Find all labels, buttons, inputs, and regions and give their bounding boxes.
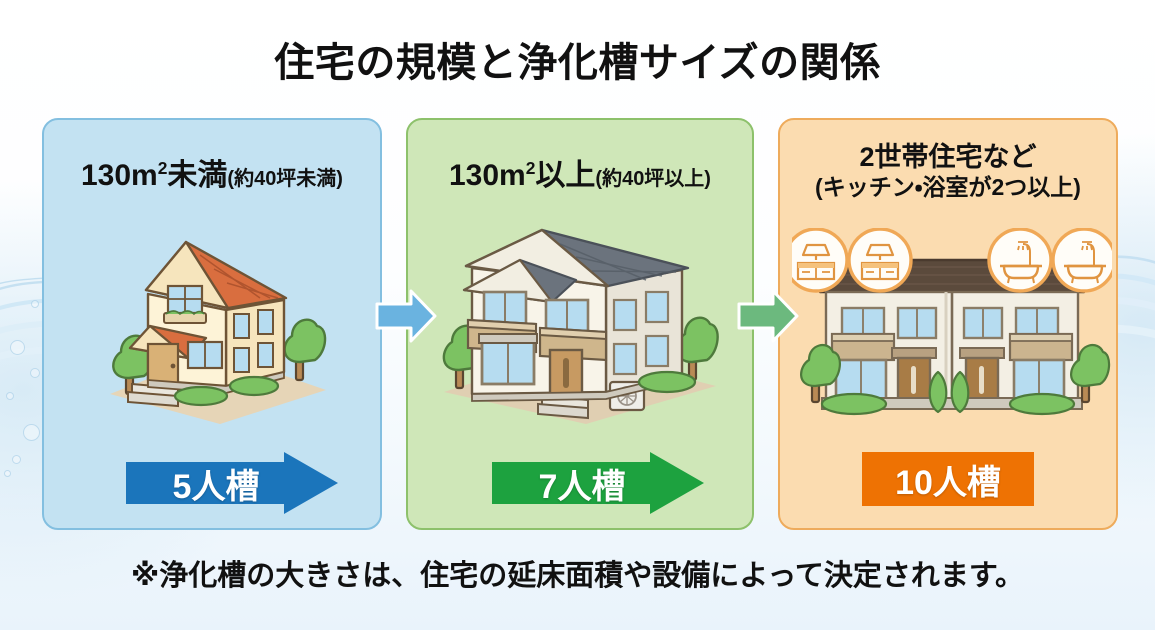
illustration-two-story-house-gray-roof [424, 224, 734, 424]
panel-2-heading: 130m2以上(約40坪以上) [408, 150, 752, 194]
capacity-badge-7[interactable]: 7人槽 [492, 452, 704, 514]
bathtub-shower-icon [989, 229, 1051, 291]
page-title: 住宅の規模と浄化槽サイズの関係 [0, 30, 1155, 88]
panel-1-heading-main: 130m [81, 159, 158, 192]
capacity-badge-5[interactable]: 5人槽 [126, 452, 338, 514]
infographic-stage: 住宅の規模と浄化槽サイズの関係 130m2未満(約40坪未満) 130m2以上(… [0, 0, 1155, 630]
capacity-badge-10[interactable]: 10人槽 [862, 452, 1034, 506]
panel-1-heading-sup: 2 [158, 158, 168, 178]
capacity-badge-7-label: 7人槽 [539, 459, 626, 508]
panel-3-heading-line1: 2世帯住宅など [859, 142, 1036, 172]
panel-1-heading-after: 未満 [167, 159, 227, 192]
connector-arrow-2-icon [737, 288, 799, 344]
bathtub-shower-icon [1053, 229, 1112, 291]
connector-arrow-1-icon [375, 288, 437, 344]
panel-1-heading: 130m2未満(約40坪未満) [44, 150, 380, 194]
panel-3-heading: 2世帯住宅など (キッチン・浴室が2つ以上) [780, 142, 1116, 201]
kitchen-icon [792, 229, 847, 291]
illustration-two-story-house-red-roof [88, 228, 344, 424]
panel-2-heading-main: 130m [449, 159, 526, 192]
panel-3-heading-line2: (キッチン・浴室が2つ以上) [780, 174, 1116, 201]
capacity-badge-10-label: 10人槽 [895, 455, 1001, 504]
kitchen-icon [849, 229, 911, 291]
panel-2-heading-sub: (約40坪以上) [595, 168, 711, 190]
panel-2-heading-sup: 2 [526, 158, 536, 178]
capacity-badge-5-label: 5人槽 [173, 459, 260, 508]
panel-1-heading-sub: (約40坪未満) [227, 168, 343, 190]
illustration-duplex-house [792, 228, 1112, 428]
panel-2-heading-after: 以上 [535, 159, 595, 192]
footnote-text: ※浄化槽の大きさは、住宅の延床面積や設備によって決定されます。 [0, 552, 1155, 594]
